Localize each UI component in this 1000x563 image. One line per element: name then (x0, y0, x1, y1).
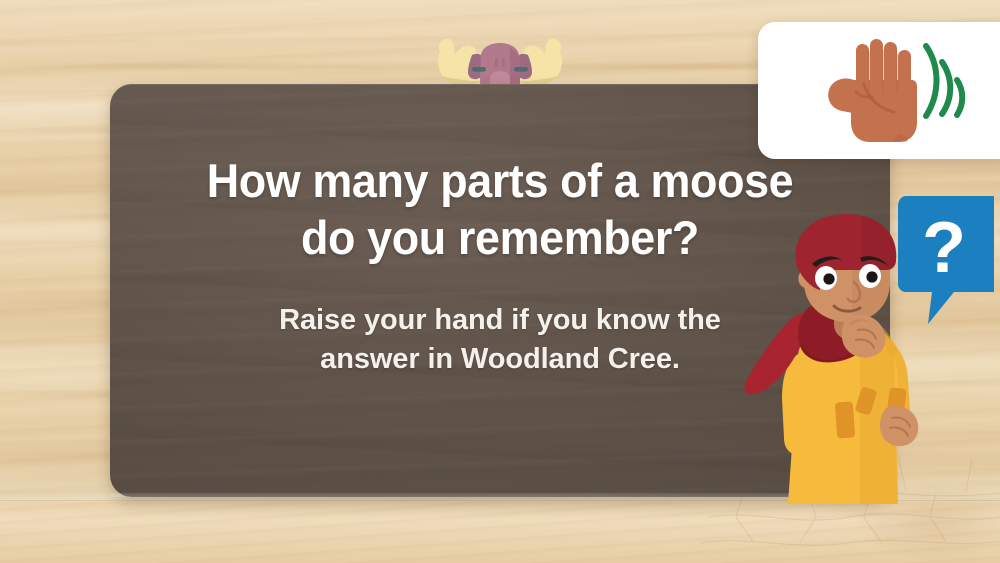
sweater-cuff-right (835, 401, 855, 438)
student-resting-hand (880, 406, 918, 446)
student-hand-on-chin (842, 315, 886, 358)
raise-hand-card[interactable] (758, 22, 1000, 159)
raised-hand-icon (820, 36, 970, 148)
motion-arc-medium (942, 62, 950, 114)
motion-arc-small (957, 80, 962, 115)
question-speech-bubble[interactable]: ? (898, 196, 994, 324)
question-mark-glyph: ? (922, 208, 966, 288)
slide-canvas: How many parts of a moose do you remembe… (0, 0, 1000, 563)
motion-arc-group (926, 46, 962, 116)
motion-arc-large (926, 46, 937, 116)
student-head (795, 214, 896, 322)
